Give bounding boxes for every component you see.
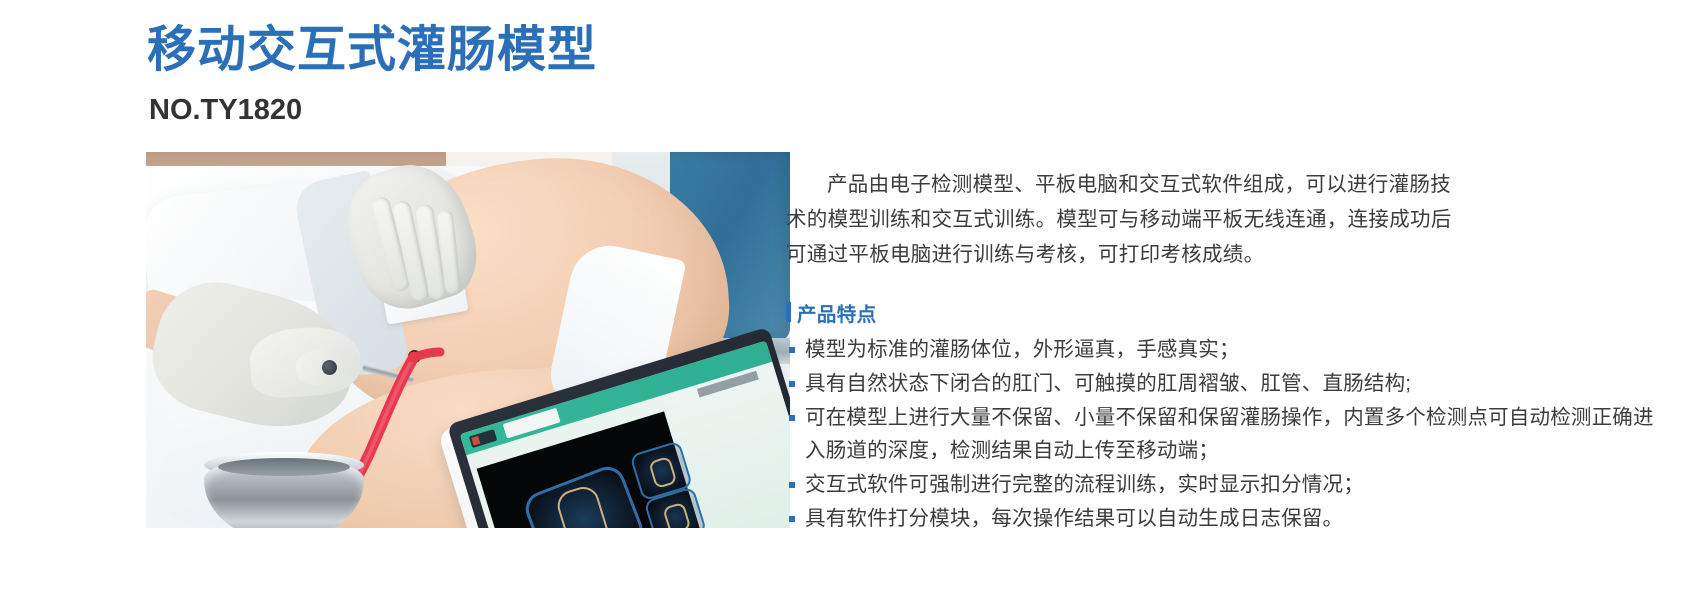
- feature-text: 交互式软件可强制进行完整的流程训练，实时显示扣分情况；: [805, 468, 1666, 501]
- page-title: 移动交互式灌肠模型: [147, 24, 597, 78]
- product-description: 产品由电子检测模型、平板电脑和交互式软件组成，可以进行灌肠技术的模型训练和交互式…: [786, 167, 1454, 272]
- bullet-square-icon: [789, 381, 795, 387]
- features-accent-bar: [786, 302, 791, 322]
- feature-text: 模型为标准的灌肠体位，外形逼真，手感真实；: [805, 333, 1666, 366]
- feature-text: 可在模型上进行大量不保留、小量不保留和保留灌肠操作，内置多个检测点可自动检测正确…: [805, 401, 1666, 467]
- product-photo: [146, 152, 790, 528]
- bullet-square-icon: [789, 347, 795, 353]
- content-column: 产品由电子检测模型、平板电脑和交互式软件组成，可以进行灌肠技术的模型训练和交互式…: [786, 146, 1666, 535]
- photo-kidney-bowl-inner: [218, 458, 350, 476]
- list-item: 可在模型上进行大量不保留、小量不保留和保留灌肠操作，内置多个检测点可自动检测正确…: [786, 401, 1666, 467]
- features-heading: 产品特点: [797, 298, 877, 327]
- feature-list: 模型为标准的灌肠体位，外形逼真，手感真实； 具有自然状态下闭合的肛门、可触摸的肛…: [786, 333, 1666, 535]
- list-item: 具有软件打分模块，每次操作结果可以自动生成日志保留。: [786, 502, 1666, 535]
- product-model-code: NO.TY1820: [149, 94, 302, 127]
- bullet-square-icon: [789, 415, 795, 421]
- feature-text: 具有软件打分模块，每次操作结果可以自动生成日志保留。: [805, 502, 1666, 535]
- features-heading-row: 产品特点: [786, 298, 1666, 327]
- feature-text: 具有自然状态下闭合的肛门、可触摸的肛周褶皱、肛管、直肠结构;: [805, 367, 1666, 400]
- list-item: 具有自然状态下闭合的肛门、可触摸的肛周褶皱、肛管、直肠结构;: [786, 367, 1666, 400]
- bullet-square-icon: [789, 516, 795, 522]
- list-item: 模型为标准的灌肠体位，外形逼真，手感真实；: [786, 333, 1666, 366]
- list-item: 交互式软件可强制进行完整的流程训练，实时显示扣分情况；: [786, 468, 1666, 501]
- bullet-square-icon: [789, 482, 795, 488]
